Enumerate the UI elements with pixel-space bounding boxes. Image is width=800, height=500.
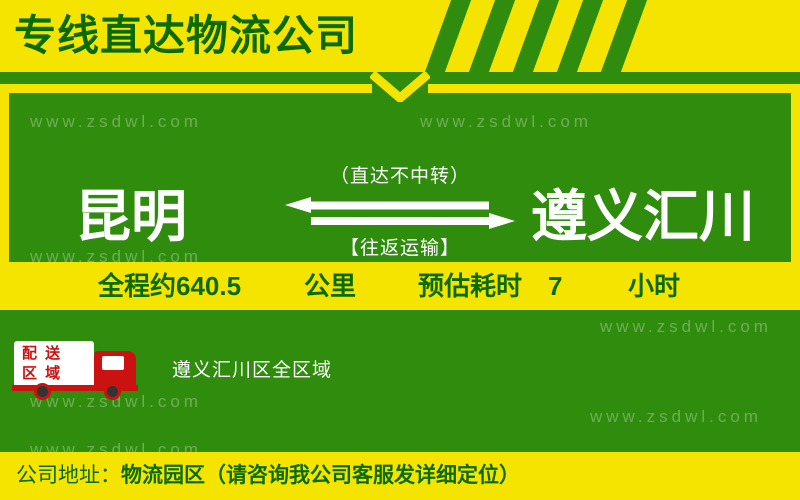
header-stripe-decoration	[420, 0, 800, 72]
origin-city: 昆明	[75, 162, 187, 272]
truck-window	[102, 356, 124, 370]
watermark-text: www.zsdwl.com	[30, 112, 202, 132]
page-title: 专线直达物流公司	[14, 12, 358, 60]
footer-bar: 公司地址：物流园区（请咨询我公司客服发详细定位）	[0, 452, 800, 500]
route-note-top: （直达不中转）	[285, 162, 515, 192]
header-bar: 专线直达物流公司	[0, 0, 800, 72]
company-address: 公司地址：物流园区（请咨询我公司客服发详细定位）	[16, 452, 520, 500]
truck-wheel	[104, 383, 121, 400]
company-address-value: 物流园区（请咨询我公司客服发详细定位）	[121, 464, 520, 487]
truck-cargo-box: 配 送 区 域	[14, 341, 94, 387]
truck-wheel	[34, 383, 51, 400]
distance-band: 全程约 640.5 公里 预估耗时 7 小时	[0, 262, 800, 310]
route-middle: （直达不中转） 【往返运输】	[285, 162, 515, 264]
distance-band-content: 全程约 640.5 公里 预估耗时 7 小时	[0, 262, 800, 310]
bidirectional-arrow-icon	[285, 196, 515, 232]
distance-value: 640.5	[176, 262, 241, 310]
delivery-row: 配 送 区 域 遵义汇川区全区域	[0, 337, 800, 417]
duration-unit: 小时	[628, 262, 680, 310]
delivery-truck-icon: 配 送 区 域	[12, 337, 162, 409]
watermark-text: www.zsdwl.com	[600, 317, 772, 337]
company-address-label: 公司地址：	[16, 464, 121, 487]
chevron-down-icon	[370, 72, 430, 102]
delivery-area-text: 遵义汇川区全区域	[172, 355, 332, 382]
distance-unit: 公里	[304, 262, 356, 310]
destination-city: 遵义汇川	[531, 162, 755, 272]
duration-label: 预估耗时	[418, 262, 522, 310]
banner-body: www.zsdwl.com www.zsdwl.com www.zsdwl.co…	[0, 72, 800, 500]
logistics-banner: 专线直达物流公司 www.zsdwl.com www.zs	[0, 0, 800, 500]
watermark-text: www.zsdwl.com	[420, 112, 592, 132]
route-note-bottom: 【往返运输】	[285, 234, 515, 264]
duration-value: 7	[548, 262, 562, 310]
distance-label: 全程约	[98, 262, 176, 310]
truck-label-line1: 配 送	[22, 344, 62, 364]
truck-label-line2: 区 域	[22, 364, 62, 384]
